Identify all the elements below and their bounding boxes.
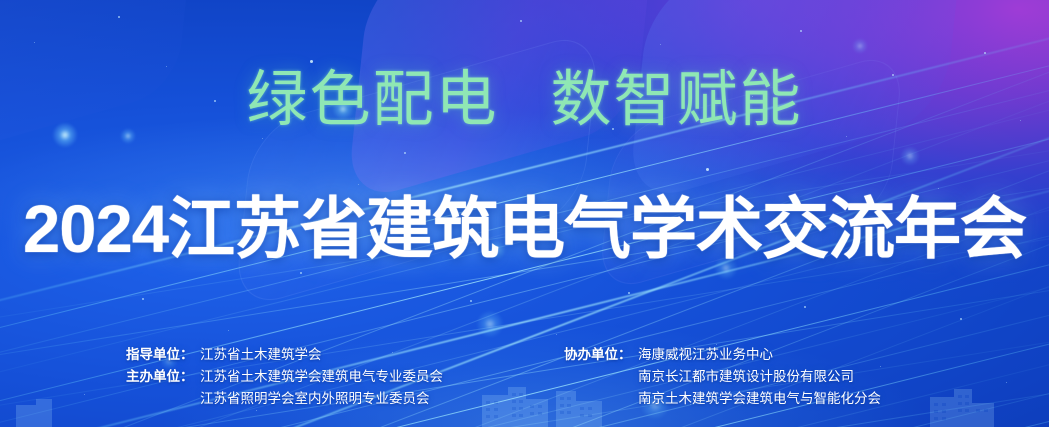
credit-row: 南京长江都市建筑设计股份有限公司 bbox=[564, 366, 881, 388]
credit-label: 指导单位： bbox=[126, 344, 200, 366]
credits-column-left: 指导单位： 江苏省土木建筑学会 主办单位： 江苏省土木建筑学会建筑电气专业委员会… bbox=[126, 344, 443, 410]
credit-label: 协办单位： bbox=[564, 344, 638, 366]
subtitle-phrase-1: 绿色配电 bbox=[246, 65, 498, 133]
banner-subtitle: 绿色配电数智赋能 bbox=[0, 68, 1049, 130]
banner-main-title: 2024江苏省建筑电气学术交流年会 bbox=[0, 196, 1049, 263]
banner-content: 绿色配电数智赋能 2024江苏省建筑电气学术交流年会 指导单位： 江苏省土木建筑… bbox=[0, 0, 1049, 427]
credit-value: 海康威视江苏业务中心 bbox=[638, 344, 773, 366]
credit-row: 江苏省照明学会室内外照明专业委员会 bbox=[126, 388, 443, 410]
conference-banner: 绿色配电数智赋能 2024江苏省建筑电气学术交流年会 指导单位： 江苏省土木建筑… bbox=[0, 0, 1049, 427]
credits-section: 指导单位： 江苏省土木建筑学会 主办单位： 江苏省土木建筑学会建筑电气专业委员会… bbox=[0, 344, 1049, 424]
credit-row: 协办单位： 海康威视江苏业务中心 bbox=[564, 344, 881, 366]
credit-row: 南京土木建筑学会建筑电气与智能化分会 bbox=[564, 388, 881, 410]
credit-row: 主办单位： 江苏省土木建筑学会建筑电气专业委员会 bbox=[126, 366, 443, 388]
credit-label: 主办单位： bbox=[126, 366, 200, 388]
credit-value: 江苏省照明学会室内外照明专业委员会 bbox=[200, 388, 430, 410]
credit-value: 南京土木建筑学会建筑电气与智能化分会 bbox=[638, 388, 881, 410]
credit-value: 江苏省土木建筑学会 bbox=[200, 344, 322, 366]
subtitle-phrase-2: 数智赋能 bbox=[551, 65, 803, 133]
credit-row: 指导单位： 江苏省土木建筑学会 bbox=[126, 344, 443, 366]
credit-value: 南京长江都市建筑设计股份有限公司 bbox=[638, 366, 854, 388]
credit-value: 江苏省土木建筑学会建筑电气专业委员会 bbox=[200, 366, 443, 388]
credits-column-right: 协办单位： 海康威视江苏业务中心 南京长江都市建筑设计股份有限公司 南京土木建筑… bbox=[564, 344, 881, 410]
